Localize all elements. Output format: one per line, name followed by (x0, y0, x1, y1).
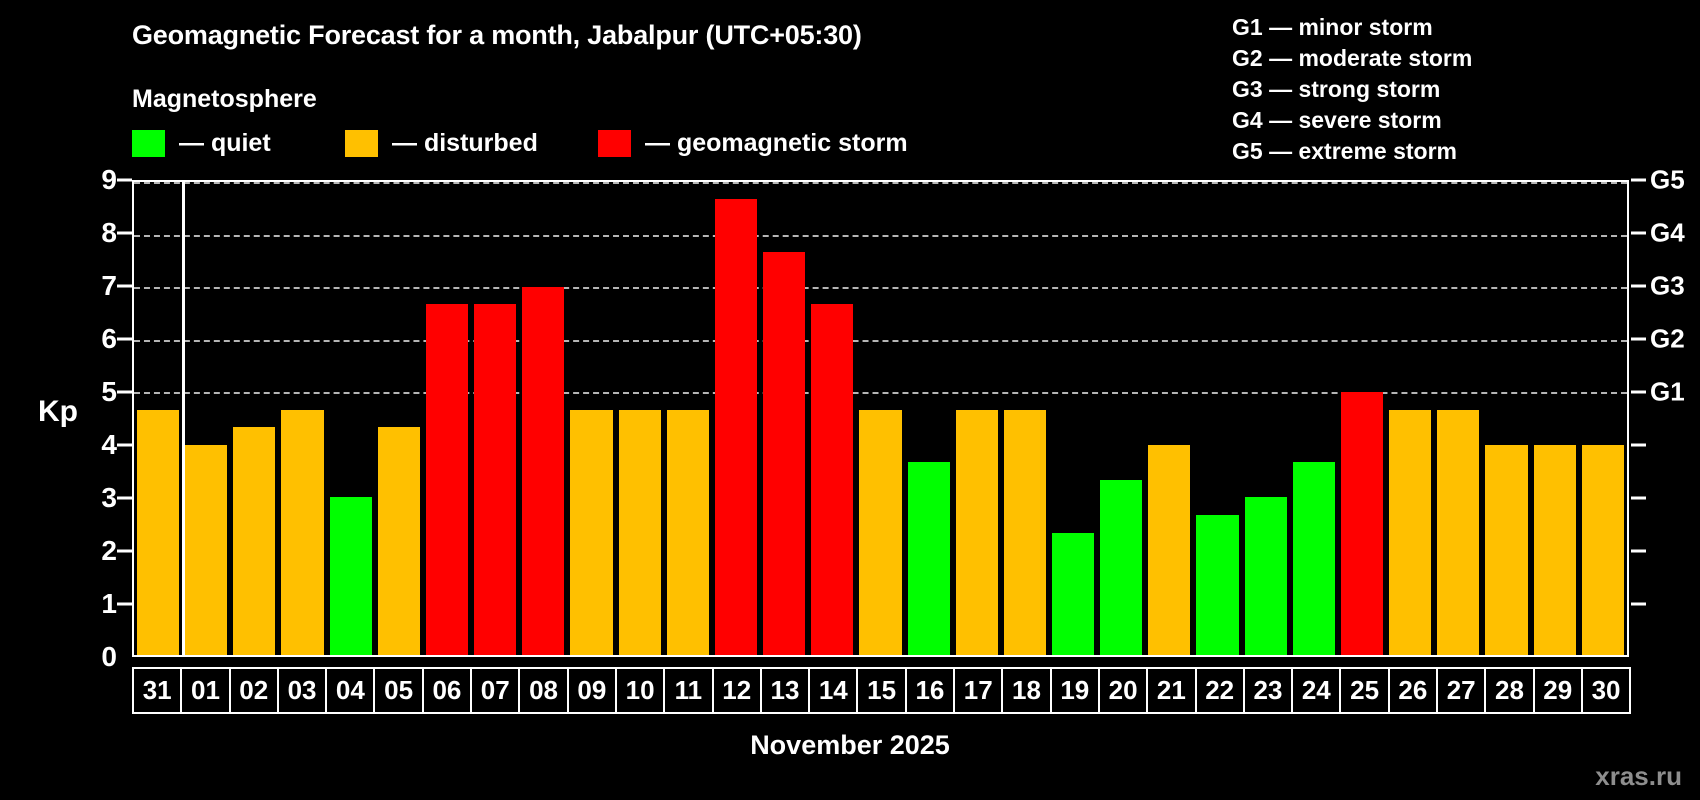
y-tick-mark-6 (117, 338, 132, 341)
bar-cell-day-17[interactable] (953, 182, 1001, 655)
day-label-17[interactable]: 17 (953, 667, 1003, 714)
y-tick-label-3: 3 (77, 482, 117, 514)
y-tick-label-1: 1 (77, 588, 117, 620)
gscale-row-g3: G3 — strong storm (1232, 74, 1472, 105)
g-tick-mark-g5 (1631, 179, 1646, 182)
y-tick-mark-2 (117, 550, 132, 553)
bar-cell-day-16[interactable] (905, 182, 953, 655)
y-tick-mark-5 (117, 391, 132, 394)
day-label-18[interactable]: 18 (1001, 667, 1051, 714)
bar-day-06[interactable] (426, 304, 468, 655)
bar-day-17[interactable] (956, 410, 998, 655)
day-label-04[interactable]: 04 (325, 667, 375, 714)
bar-day-22[interactable] (1196, 515, 1238, 655)
day-label-06[interactable]: 06 (422, 667, 472, 714)
g-tick-label-g1: G1 (1650, 377, 1685, 408)
day-label-03[interactable]: 03 (277, 667, 327, 714)
bar-day-12[interactable] (715, 199, 757, 655)
bar-day-01[interactable] (185, 445, 227, 655)
day-label-02[interactable]: 02 (229, 667, 279, 714)
bar-day-27[interactable] (1437, 410, 1479, 655)
bar-cell-day-29[interactable] (1531, 182, 1579, 655)
day-label-19[interactable]: 19 (1050, 667, 1100, 714)
g-minor-tick-mark-1 (1631, 603, 1646, 606)
y-tick-label-6: 6 (77, 323, 117, 355)
bar-cell-day-20[interactable] (1097, 182, 1145, 655)
day-label-24[interactable]: 24 (1291, 667, 1341, 714)
bar-day-24[interactable] (1293, 462, 1335, 655)
bar-cell-day-01[interactable] (182, 182, 230, 655)
bar-cell-day-22[interactable] (1193, 182, 1241, 655)
g-tick-label-g2: G2 (1650, 324, 1685, 355)
day-label-13[interactable]: 13 (760, 667, 810, 714)
y-tick-label-0: 0 (77, 641, 117, 673)
day-label-05[interactable]: 05 (373, 667, 423, 714)
bar-day-14[interactable] (811, 304, 853, 655)
y-axis-title: Kp (38, 395, 78, 429)
gscale-row-g1: G1 — minor storm (1232, 12, 1472, 43)
g-minor-tick-mark-4 (1631, 444, 1646, 447)
gscale-row-g5: G5 — extreme storm (1232, 136, 1472, 167)
watermark: xras.ru (1595, 761, 1682, 792)
day-label-01[interactable]: 01 (180, 667, 230, 714)
day-label-11[interactable]: 11 (663, 667, 713, 714)
bar-day-31[interactable] (137, 410, 179, 655)
bar-day-21[interactable] (1148, 445, 1190, 655)
bar-cell-day-07[interactable] (471, 182, 519, 655)
g-tick-label-g5: G5 (1650, 165, 1685, 196)
bar-day-29[interactable] (1534, 445, 1576, 655)
x-axis-day-labels: 3101020304050607080910111213141516171819… (132, 667, 1629, 714)
legend-item-disturbed: — disturbed (345, 128, 538, 158)
bar-day-08[interactable] (522, 287, 564, 655)
day-label-07[interactable]: 07 (470, 667, 520, 714)
bar-day-25[interactable] (1341, 392, 1383, 655)
bar-cell-day-04[interactable] (327, 182, 375, 655)
day-label-16[interactable]: 16 (905, 667, 955, 714)
bar-day-04[interactable] (330, 497, 372, 655)
bar-cell-day-21[interactable] (1145, 182, 1193, 655)
y-tick-label-4: 4 (77, 429, 117, 461)
day-label-25[interactable]: 25 (1339, 667, 1389, 714)
bar-cell-day-30[interactable] (1579, 182, 1627, 655)
bar-cell-day-03[interactable] (278, 182, 326, 655)
day-label-26[interactable]: 26 (1388, 667, 1438, 714)
bar-day-02[interactable] (233, 427, 275, 655)
bar-cell-day-05[interactable] (375, 182, 423, 655)
bar-cell-day-12[interactable] (712, 182, 760, 655)
day-label-22[interactable]: 22 (1195, 667, 1245, 714)
legend-swatch-geomagnetic-storm (598, 130, 631, 157)
y-tick-mark-4 (117, 444, 132, 447)
day-label-15[interactable]: 15 (856, 667, 906, 714)
bar-day-09[interactable] (570, 410, 612, 655)
g-tick-label-g4: G4 (1650, 218, 1685, 249)
bar-day-19[interactable] (1052, 533, 1094, 655)
g-tick-mark-g2 (1631, 338, 1646, 341)
day-label-30[interactable]: 30 (1581, 667, 1631, 714)
bar-day-05[interactable] (378, 427, 420, 655)
bar-day-13[interactable] (763, 252, 805, 655)
bar-cell-day-02[interactable] (230, 182, 278, 655)
day-label-21[interactable]: 21 (1146, 667, 1196, 714)
bar-cell-day-28[interactable] (1482, 182, 1530, 655)
bar-series (134, 182, 1627, 655)
g-scale-legend: G1 — minor stormG2 — moderate stormG3 — … (1232, 12, 1472, 167)
geomagnetic-forecast-chart: Geomagnetic Forecast for a month, Jabalp… (0, 0, 1700, 800)
bar-day-28[interactable] (1485, 445, 1527, 655)
bar-cell-day-24[interactable] (1290, 182, 1338, 655)
chart-subtitle: Magnetosphere (132, 85, 317, 114)
bar-day-03[interactable] (281, 410, 323, 655)
y-tick-mark-7 (117, 285, 132, 288)
bar-cell-day-08[interactable] (519, 182, 567, 655)
bar-cell-day-06[interactable] (423, 182, 471, 655)
page-title: Geomagnetic Forecast for a month, Jabalp… (132, 20, 862, 51)
day-label-08[interactable]: 08 (518, 667, 568, 714)
bar-day-30[interactable] (1582, 445, 1624, 655)
day-label-09[interactable]: 09 (567, 667, 617, 714)
bar-day-26[interactable] (1389, 410, 1431, 655)
bar-cell-day-23[interactable] (1242, 182, 1290, 655)
day-label-28[interactable]: 28 (1484, 667, 1534, 714)
bar-cell-day-31[interactable] (134, 182, 182, 655)
bar-cell-day-25[interactable] (1338, 182, 1386, 655)
bar-cell-day-14[interactable] (808, 182, 856, 655)
bar-cell-day-10[interactable] (616, 182, 664, 655)
y-tick-label-9: 9 (77, 164, 117, 196)
y-tick-mark-9 (117, 179, 132, 182)
day-label-23[interactable]: 23 (1243, 667, 1293, 714)
bar-day-07[interactable] (474, 304, 516, 655)
bar-day-15[interactable] (859, 410, 901, 655)
plot-area (132, 180, 1629, 657)
day-label-10[interactable]: 10 (615, 667, 665, 714)
x-axis-title: November 2025 (0, 730, 1700, 761)
bar-cell-day-27[interactable] (1434, 182, 1482, 655)
legend-label-geomagnetic-storm: — geomagnetic storm (645, 131, 908, 156)
day-label-12[interactable]: 12 (712, 667, 762, 714)
bar-day-20[interactable] (1100, 480, 1142, 655)
g-tick-label-g3: G3 (1650, 271, 1685, 302)
bar-cell-day-19[interactable] (1049, 182, 1097, 655)
y-tick-label-7: 7 (77, 270, 117, 302)
g-tick-mark-g4 (1631, 232, 1646, 235)
legend-label-disturbed: — disturbed (392, 131, 538, 156)
bar-cell-day-26[interactable] (1386, 182, 1434, 655)
bar-cell-day-11[interactable] (664, 182, 712, 655)
g-tick-mark-g3 (1631, 285, 1646, 288)
legend-swatch-disturbed (345, 130, 378, 157)
y-tick-label-2: 2 (77, 535, 117, 567)
y-tick-mark-8 (117, 232, 132, 235)
gscale-row-g4: G4 — severe storm (1232, 105, 1472, 136)
y-tick-mark-1 (117, 603, 132, 606)
gscale-row-g2: G2 — moderate storm (1232, 43, 1472, 74)
legend-swatch-quiet (132, 130, 165, 157)
legend-item-geomagnetic-storm: — geomagnetic storm (598, 128, 908, 158)
bar-cell-day-15[interactable] (856, 182, 904, 655)
bar-day-11[interactable] (667, 410, 709, 655)
y-tick-label-8: 8 (77, 217, 117, 249)
bar-cell-day-09[interactable] (567, 182, 615, 655)
legend-label-quiet: — quiet (179, 131, 271, 156)
bar-cell-day-18[interactable] (1001, 182, 1049, 655)
bar-day-16[interactable] (908, 462, 950, 655)
legend-item-quiet: — quiet (132, 128, 271, 158)
day-label-14[interactable]: 14 (808, 667, 858, 714)
day-label-31[interactable]: 31 (132, 667, 182, 714)
bar-day-18[interactable] (1004, 410, 1046, 655)
y-tick-label-5: 5 (77, 376, 117, 408)
g-tick-mark-g1 (1631, 391, 1646, 394)
g-minor-tick-mark-2 (1631, 550, 1646, 553)
day-label-20[interactable]: 20 (1098, 667, 1148, 714)
bar-day-10[interactable] (619, 410, 661, 655)
g-minor-tick-mark-3 (1631, 497, 1646, 500)
bar-cell-day-13[interactable] (760, 182, 808, 655)
day-label-27[interactable]: 27 (1436, 667, 1486, 714)
day-label-29[interactable]: 29 (1533, 667, 1583, 714)
bar-day-23[interactable] (1245, 497, 1287, 655)
y-tick-mark-3 (117, 497, 132, 500)
